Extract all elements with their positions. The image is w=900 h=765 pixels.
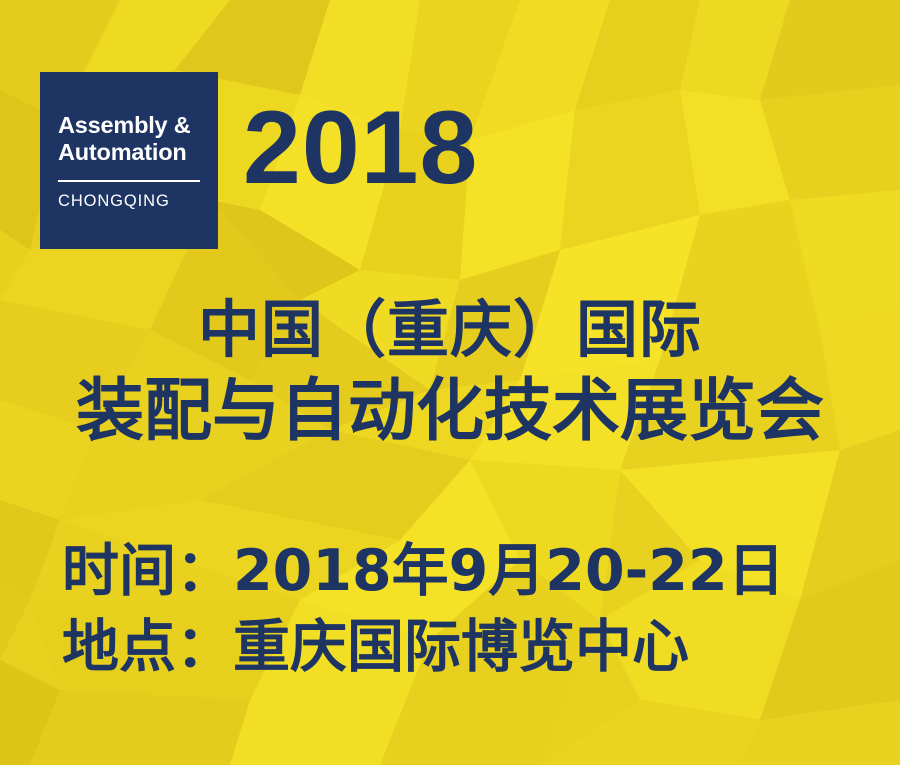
event-title: 中国（重庆）国际 装配与自动化技术展览会 xyxy=(0,297,900,448)
logo-divider xyxy=(58,180,200,182)
event-title-line-2: 装配与自动化技术展览会 xyxy=(0,376,900,448)
event-details: 时间：2018年9月20-22日 地点：重庆国际博览中心 xyxy=(62,534,785,686)
logo-name-line-1: Assembly & xyxy=(58,112,200,139)
event-poster: Assembly & Automation CHONGQING 2018 中国（… xyxy=(0,0,900,765)
logo-city-label: CHONGQING xyxy=(58,193,200,210)
event-date: 时间：2018年9月20-22日 xyxy=(62,534,785,610)
event-year: 2018 xyxy=(243,96,478,200)
event-venue: 地点：重庆国际博览中心 xyxy=(62,610,785,686)
event-title-line-1: 中国（重庆）国际 xyxy=(0,297,900,363)
logo-name-line-2: Automation xyxy=(58,139,200,166)
event-logo: Assembly & Automation CHONGQING xyxy=(40,72,218,249)
